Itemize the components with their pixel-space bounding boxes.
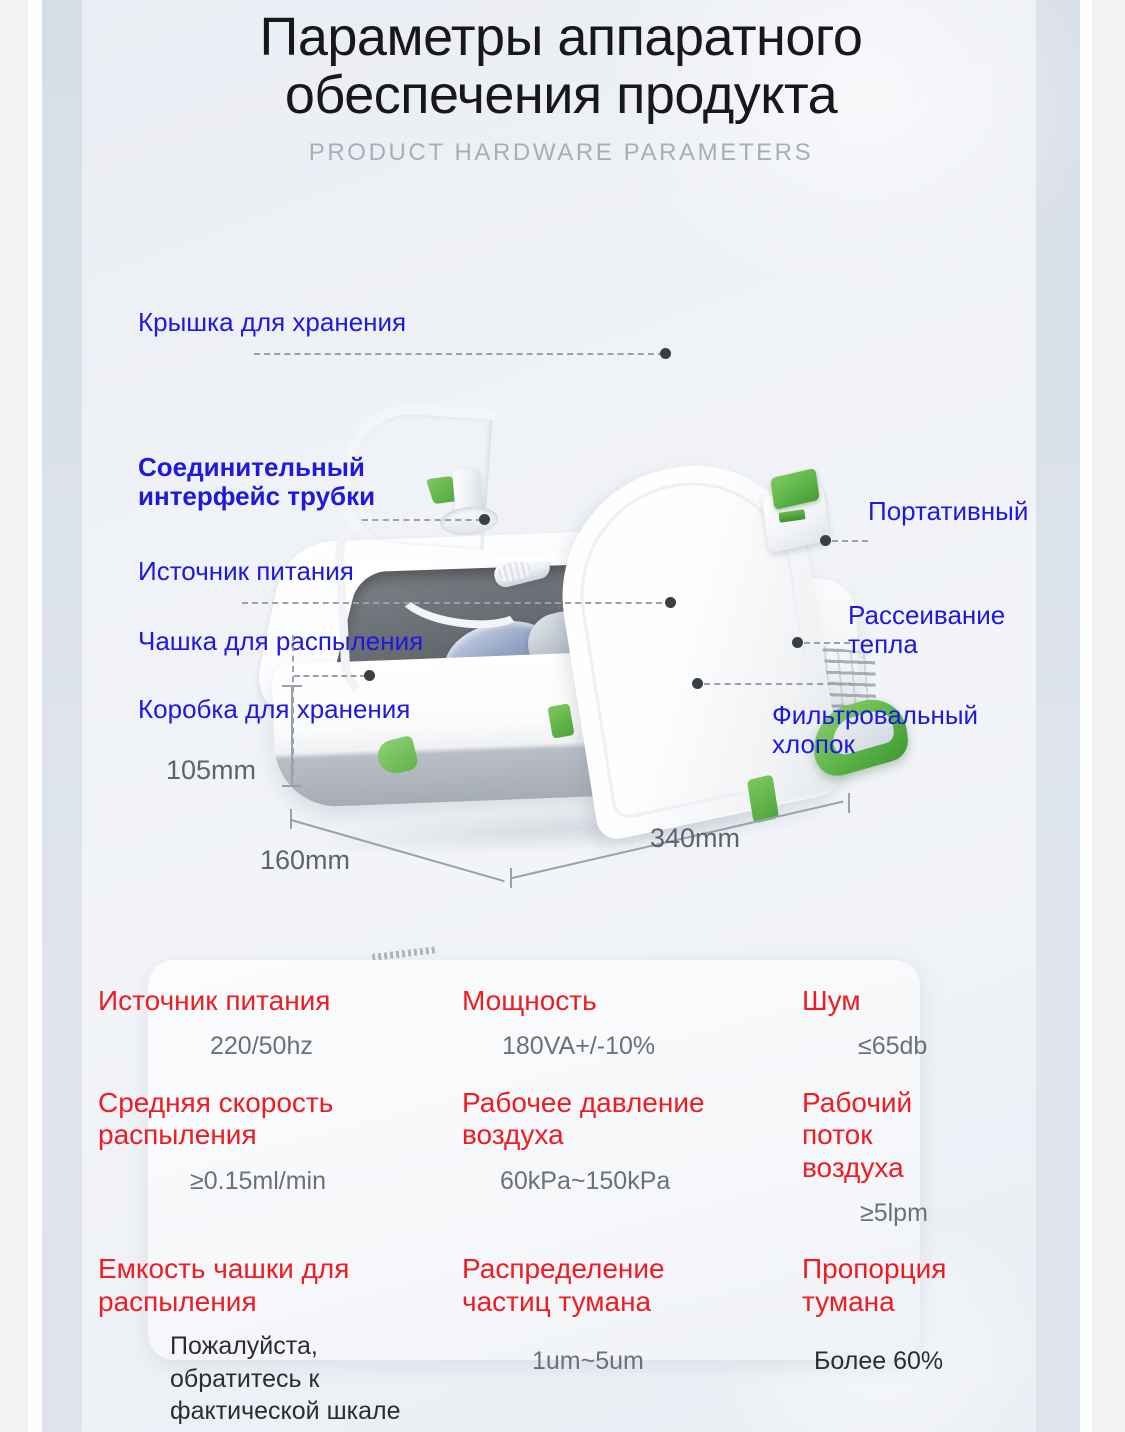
dimension-height-line [291, 685, 293, 787]
callout-power-source-leader [242, 602, 672, 604]
spec-cell-noise: Шум ≤65db [748, 985, 978, 1063]
spec-value-mist-proportion: Более 60% [748, 1346, 978, 1377]
spec-row-1: Источник питания 220/50hz Мощность 180VA… [98, 985, 978, 1063]
spec-label-power: Мощность [428, 985, 748, 1017]
dimension-height-cap-top [282, 685, 302, 687]
spec-value-power: 180VA+/-10% [428, 1031, 748, 1062]
spec-cell-power: Мощность 180VA+/-10% [428, 985, 748, 1063]
spec-label-mist-proportion: Пропорция тумана [748, 1253, 978, 1318]
dimension-height-value: 105mm [166, 755, 256, 786]
dimension-width-cap-end [848, 793, 850, 813]
dimension-height-cap-bottom [282, 785, 302, 787]
page-subtitle: PRODUCT HARDWARE PARAMETERS [42, 139, 1080, 167]
callout-power-source-label: Источник питания [138, 557, 354, 586]
page-title: Параметры аппаратного обеспечения продук… [42, 8, 1080, 125]
page-header: Параметры аппаратного обеспечения продук… [42, 8, 1080, 167]
callout-portable-leader [832, 540, 868, 542]
spec-label-cup-capacity: Емкость чашки для распыления [98, 1253, 428, 1318]
spec-cell-power-source: Источник питания 220/50hz [98, 985, 428, 1063]
callout-nebulizer-cup-leader [294, 675, 366, 677]
callout-heat-dissipation-leader [804, 642, 850, 644]
callout-storage-box-label: Коробка для хранения [138, 695, 410, 724]
spec-label-particle-distribution: Распределение частиц тумана [428, 1253, 748, 1318]
callout-storage-lid-label: Крышка для хранения [138, 308, 406, 337]
callout-storage-lid-leader [254, 353, 664, 355]
spec-label-air-flow: Рабочий поток воздуха [748, 1087, 978, 1184]
spec-cell-cup-capacity: Емкость чашки для распыления Пожалуйста,… [98, 1253, 428, 1427]
right-white-margin [1080, 0, 1092, 1432]
spec-cell-mist-proportion: Пропорция тумана Более 60% [748, 1253, 978, 1427]
spec-value-noise: ≤65db [748, 1031, 978, 1062]
callout-portable-dot [820, 535, 831, 546]
left-gutter [0, 0, 28, 1432]
callout-filter-cotton-dot [692, 678, 703, 689]
callout-tube-connector-label: Соединительный интерфейс трубки [138, 453, 375, 511]
page-title-line-2: обеспечения продукта [82, 66, 1040, 124]
spec-cell-avg-spray-rate: Средняя скорость распыления ≥0.15ml/min [98, 1087, 428, 1230]
product-diagram: Крышка для хранения Соединительный интер… [42, 215, 1080, 935]
spec-row-2: Средняя скорость распыления ≥0.15ml/min … [98, 1087, 978, 1230]
callout-heat-dissipation-dot [792, 637, 803, 648]
spec-value-cup-capacity: Пожалуйста, обратитесь к фактической шка… [98, 1330, 428, 1428]
spec-label-working-pressure: Рабочее давление воздуха [428, 1087, 748, 1152]
spec-cell-particle-distribution: Распределение частиц тумана 1um~5um [428, 1253, 748, 1427]
spec-value-power-source: 220/50hz [98, 1031, 428, 1062]
callout-filter-cotton-label: Фильтровальный хлопок [772, 701, 978, 759]
spec-value-working-pressure: 60kPa~150kPa [428, 1166, 748, 1197]
callout-filter-cotton-leader [704, 683, 854, 685]
right-gutter [1092, 0, 1125, 1432]
spec-value-avg-spray-rate: ≥0.15ml/min [98, 1166, 428, 1197]
callout-tube-connector-dot [479, 514, 490, 525]
dimension-depth-value: 160mm [260, 845, 350, 876]
dimension-depth-cap-start [290, 809, 292, 829]
specifications-grid: Источник питания 220/50hz Мощность 180VA… [98, 985, 978, 1428]
spec-row-3: Емкость чашки для распыления Пожалуйста,… [98, 1253, 978, 1427]
spec-label-noise: Шум [748, 985, 978, 1017]
spec-value-air-flow: ≥5lpm [748, 1198, 978, 1229]
page-title-line-1: Параметры аппаратного [82, 8, 1040, 66]
callout-heat-dissipation-label: Рассеивание тепла [848, 601, 1005, 659]
spec-cell-air-flow: Рабочий поток воздуха ≥5lpm [748, 1087, 978, 1230]
callout-storage-lid-dot [660, 348, 671, 359]
spec-label-avg-spray-rate: Средняя скорость распыления [98, 1087, 428, 1152]
spec-cell-working-pressure: Рабочее давление воздуха 60kPa~150kPa [428, 1087, 748, 1230]
spec-value-particle-distribution: 1um~5um [428, 1346, 748, 1377]
callout-power-source-dot [665, 597, 676, 608]
callout-nebulizer-cup-dot [364, 670, 375, 681]
dimension-width-value: 340mm [650, 823, 740, 854]
spec-label-power-source: Источник питания [98, 985, 428, 1017]
left-white-margin [28, 0, 42, 1432]
callout-portable-label: Портативный [868, 497, 1028, 526]
callout-nebulizer-cup-label: Чашка для распыления [138, 627, 423, 656]
callout-tube-connector-leader [362, 519, 482, 521]
